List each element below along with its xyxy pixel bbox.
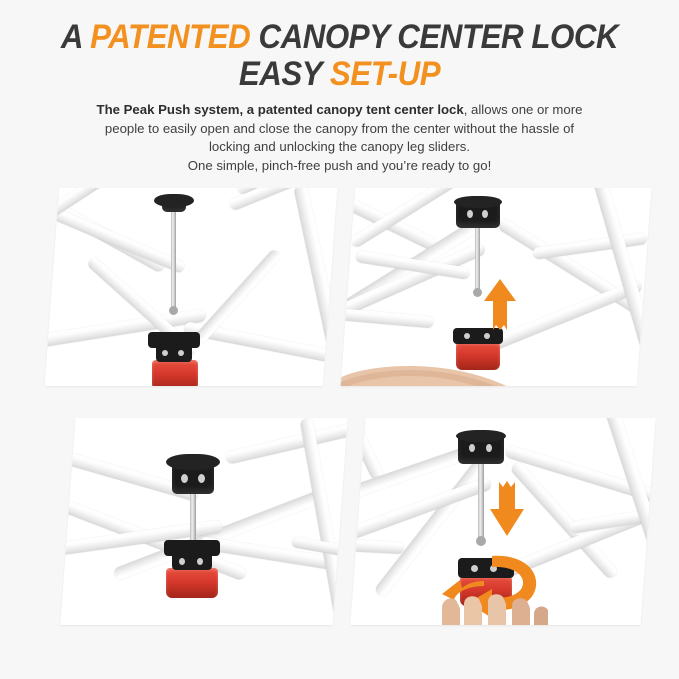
frame-strut <box>45 204 187 274</box>
page-title: A PATENTED CANOPY CENTER LOCK EASY SET-U… <box>27 0 652 91</box>
peak-hub-cap-icon <box>456 430 506 442</box>
headline-line-1-part-2: CANOPY CENTER LOCK <box>250 18 618 56</box>
panel-bottom-left-photo <box>60 418 347 625</box>
center-push-rod <box>478 462 484 540</box>
panel-top-right <box>341 188 652 386</box>
peak-hub-cap-icon <box>154 194 194 207</box>
hub-bolt-icon <box>482 210 488 218</box>
arrow-up-icon <box>480 278 520 334</box>
frame-strut <box>350 418 385 481</box>
frame-strut <box>341 306 434 328</box>
center-push-rod <box>190 492 196 542</box>
headline-line-2-part-1: EASY <box>239 55 330 93</box>
description-line-1: The Peak Push system, a patented canopy … <box>40 101 640 119</box>
frame-strut <box>225 418 348 464</box>
panel-bottom-left <box>60 418 347 625</box>
center-push-rod <box>171 210 176 312</box>
infographic-page: A PATENTED CANOPY CENTER LOCK EASY SET-U… <box>0 0 679 679</box>
center-lock-body <box>172 552 212 570</box>
panel-bottom-right <box>350 418 655 625</box>
red-push-lock <box>152 360 198 386</box>
hub-bolt-icon <box>198 474 205 483</box>
panel-bottom-right-photo <box>350 418 655 625</box>
photo-panel-grid <box>0 186 679 631</box>
hub-bolt-icon <box>181 474 188 483</box>
panel-top-left <box>45 188 338 386</box>
description-paragraph: The Peak Push system, a patented canopy … <box>40 101 640 175</box>
lock-bolt-icon <box>178 350 184 356</box>
lock-bolt-icon <box>464 333 470 339</box>
lock-bolt-icon <box>179 558 185 565</box>
panel-top-right-photo <box>341 188 652 386</box>
push-rod-tip <box>476 536 486 546</box>
hub-bolt-icon <box>486 444 492 452</box>
headline-line-1-part-1: A <box>61 18 90 56</box>
frame-strut <box>350 538 404 554</box>
lock-bolt-icon <box>197 558 203 565</box>
description-line-1-rest: , allows one or more <box>464 102 583 117</box>
headline-accent-patented: PATENTED <box>90 18 250 56</box>
peak-hub-cap-icon <box>454 196 502 208</box>
headline-line-2: EASY SET-UP <box>27 57 652 92</box>
panel-top-left-photo <box>45 188 338 386</box>
frame-strut <box>532 232 648 260</box>
hand-open-palm <box>341 350 534 386</box>
hub-bolt-icon <box>467 210 473 218</box>
peak-hub-cap-icon <box>166 454 220 470</box>
description-bold-lead: The Peak Push system, a patented canopy … <box>97 102 464 117</box>
frame-strut <box>300 418 348 625</box>
headline-line-1: A PATENTED CANOPY CENTER LOCK <box>27 20 652 55</box>
red-push-lock <box>166 568 218 598</box>
lock-bolt-icon <box>162 350 168 356</box>
description-line-2: people to easily open and close the cano… <box>40 120 640 138</box>
headline-accent-setup: SET-UP <box>330 55 440 93</box>
push-rod-tip <box>169 306 178 315</box>
hub-bolt-icon <box>469 444 475 452</box>
description-line-3: locking and unlocking the canopy leg sli… <box>40 138 640 156</box>
arrow-down-icon <box>486 476 528 538</box>
hand-gripping-fingers <box>434 594 554 625</box>
description-line-4: One simple, pinch-free push and you’re r… <box>40 157 640 175</box>
